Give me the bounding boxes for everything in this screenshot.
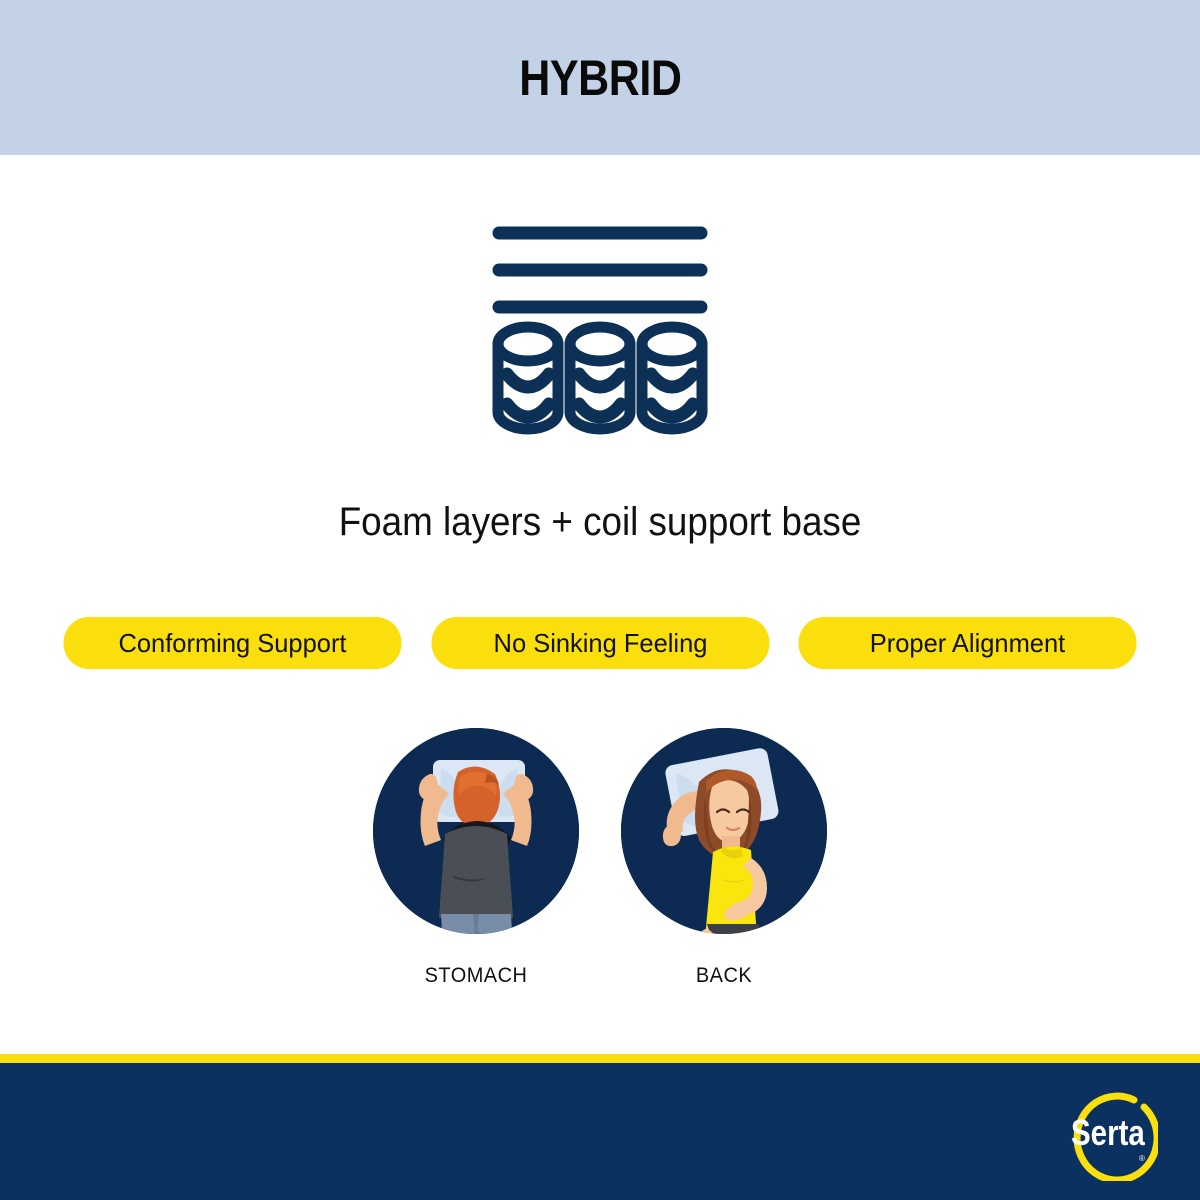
benefit-pill-row: Conforming Support No Sinking Feeling Pr…	[60, 617, 1140, 669]
infographic-page: HYBRID	[0, 0, 1200, 1200]
subtitle-text: Foam layers + coil support base	[48, 500, 1152, 545]
back-sleeper-illustration	[621, 728, 827, 934]
header-band: HYBRID	[0, 0, 1200, 155]
stomach-sleeper-illustration	[373, 728, 579, 934]
hybrid-construction-icon-wrap	[0, 218, 1200, 443]
sleep-position-label-stomach: STOMACH	[378, 964, 574, 988]
sleep-position-row: STOMACH	[0, 728, 1200, 988]
footer-band: Serta ®	[0, 1063, 1200, 1200]
page-title: HYBRID	[519, 49, 681, 107]
sleep-position-back[interactable]: BACK	[621, 728, 827, 988]
serta-logo[interactable]: Serta ®	[1062, 1085, 1158, 1181]
benefit-pill-proper-alignment[interactable]: Proper Alignment	[798, 617, 1136, 669]
footer-accent-stripe	[0, 1054, 1200, 1063]
registered-mark: ®	[1139, 1154, 1145, 1163]
benefit-pill-label: No Sinking Feeling	[493, 628, 707, 659]
serta-logo-text: Serta	[1071, 1112, 1145, 1152]
benefit-pill-conforming-support[interactable]: Conforming Support	[63, 617, 401, 669]
benefit-pill-label: Proper Alignment	[870, 628, 1065, 659]
benefit-pill-no-sinking-feeling[interactable]: No Sinking Feeling	[431, 617, 769, 669]
sleep-position-stomach[interactable]: STOMACH	[373, 728, 579, 988]
benefit-pill-label: Conforming Support	[118, 628, 346, 659]
foam-layers-coil-base-icon	[485, 218, 715, 443]
sleep-position-label-back: BACK	[626, 964, 822, 988]
